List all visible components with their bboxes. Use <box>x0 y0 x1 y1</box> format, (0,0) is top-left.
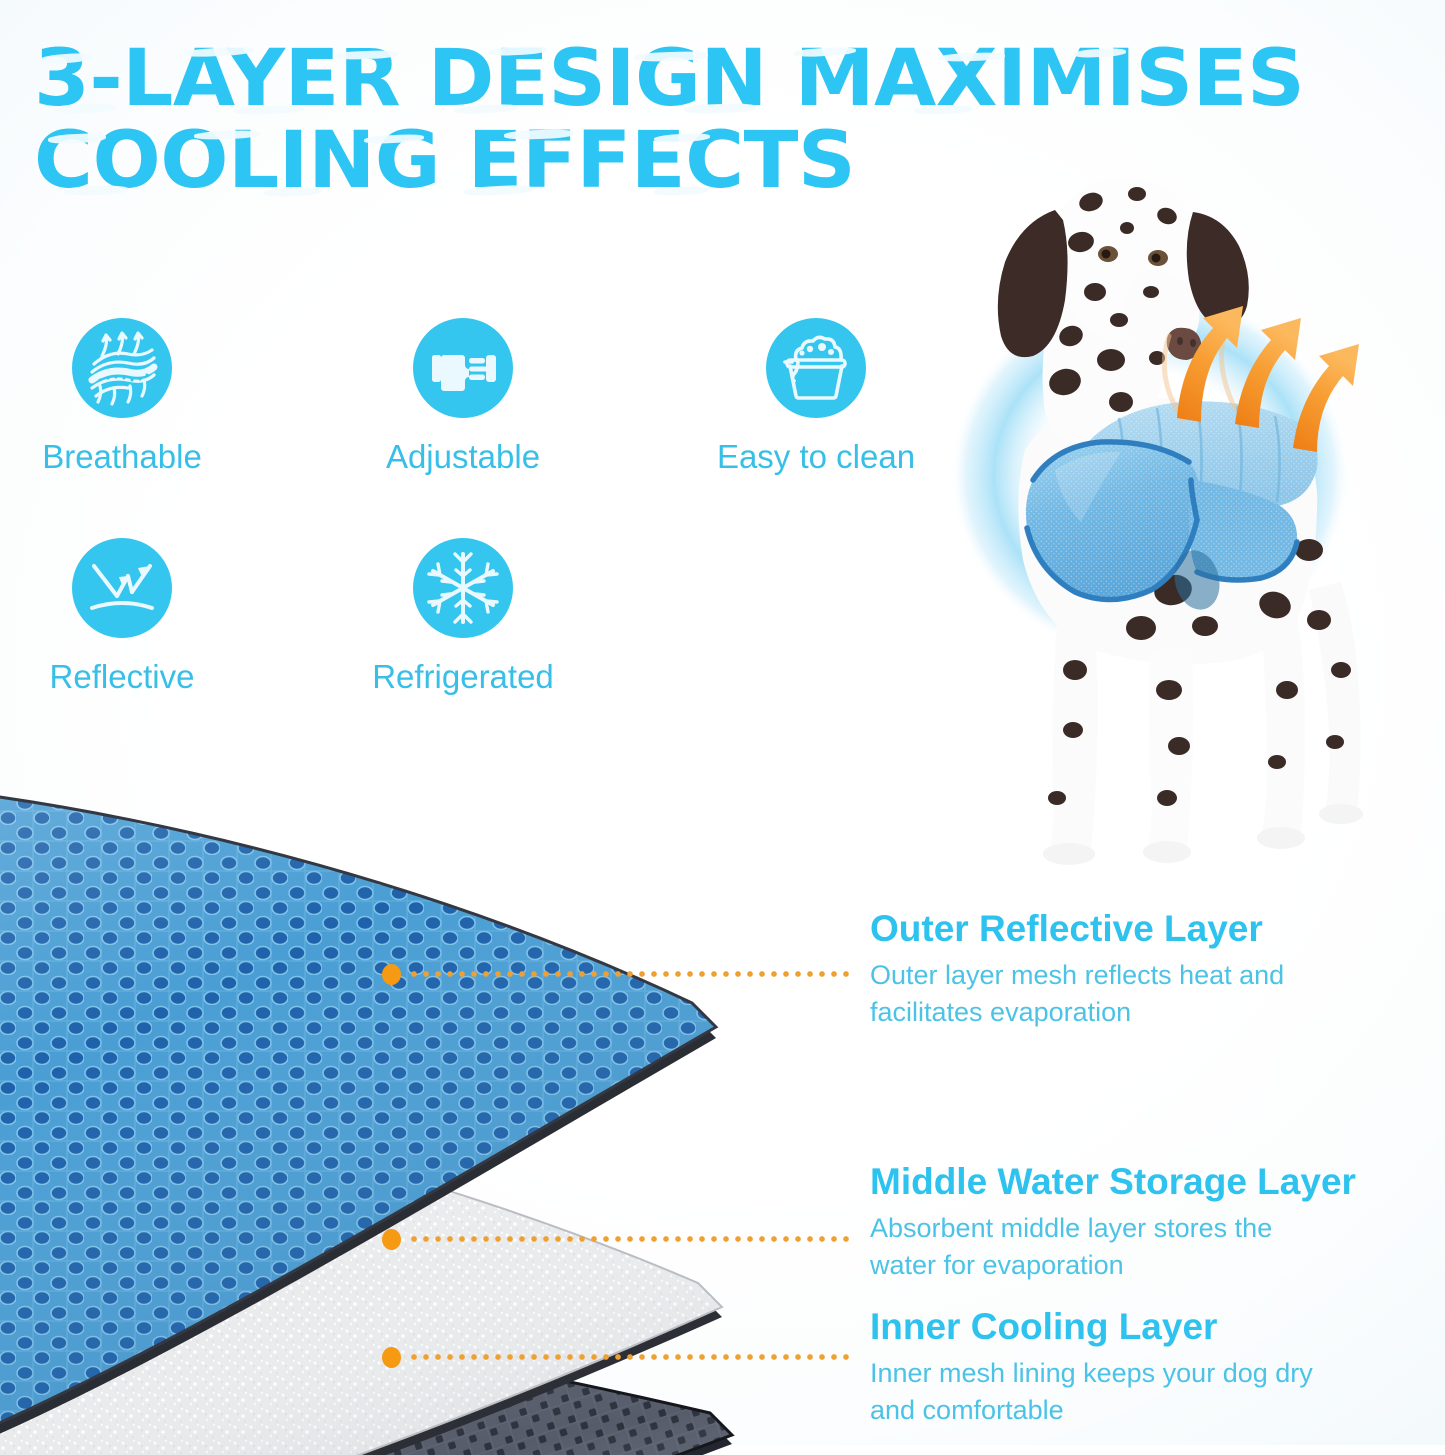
callout-body-line: Inner mesh lining keeps your dog dry <box>870 1355 1313 1392</box>
callout-body-line: Outer layer mesh reflects heat and <box>870 957 1284 994</box>
feature-list: Breathable Adjustable <box>0 318 960 758</box>
buckle-icon <box>413 318 513 418</box>
infographic-canvas: 3-LAYER DESIGN MAXIMISES COOLING EFFECTS <box>0 0 1445 1445</box>
callout-inner-cooling-layer: Inner Cooling Layer Inner mesh lining ke… <box>870 1305 1313 1429</box>
feature-refrigerated: Refrigerated <box>328 538 598 696</box>
headline-line-1: 3-LAYER DESIGN MAXIMISES <box>34 42 1177 116</box>
feature-row-1: Breathable Adjustable <box>0 318 960 538</box>
leader-dots <box>408 1353 852 1361</box>
callout-body-line: facilitates evaporation <box>870 994 1284 1031</box>
callout-body-line: Absorbent middle layer stores the <box>870 1210 1356 1247</box>
leader-dot <box>382 1347 401 1368</box>
feature-label: Breathable <box>0 438 257 476</box>
leader-dots <box>408 1235 852 1243</box>
wash-basin-icon <box>766 318 866 418</box>
feature-row-2: Reflective <box>0 538 960 758</box>
callout-title: Middle Water Storage Layer <box>870 1160 1356 1204</box>
reflective-rays-icon <box>72 538 172 638</box>
callout-body: Outer layer mesh reflects heat and facil… <box>870 957 1284 1031</box>
leader-line-middle <box>382 1228 852 1250</box>
callout-title: Inner Cooling Layer <box>870 1305 1313 1349</box>
feature-label: Reflective <box>0 658 257 696</box>
feature-adjustable: Adjustable <box>328 318 598 476</box>
leader-dot <box>382 1229 401 1250</box>
leader-line-inner <box>382 1346 852 1368</box>
leader-line-outer <box>382 963 852 985</box>
callout-body-line: water for evaporation <box>870 1247 1356 1284</box>
leader-dots <box>408 970 852 978</box>
callout-title: Outer Reflective Layer <box>870 907 1284 951</box>
product-photo-dog-in-vest <box>905 150 1445 870</box>
callout-middle-water-storage-layer: Middle Water Storage Layer Absorbent mid… <box>870 1160 1356 1284</box>
feature-breathable: Breathable <box>0 318 257 476</box>
feature-reflective: Reflective <box>0 538 257 696</box>
leader-dot <box>382 964 401 985</box>
feature-label: Refrigerated <box>328 658 598 696</box>
snowflake-icon <box>413 538 513 638</box>
callout-body-line: and comfortable <box>870 1392 1313 1429</box>
callout-outer-reflective-layer: Outer Reflective Layer Outer layer mesh … <box>870 907 1284 1031</box>
breathable-fabric-icon <box>72 318 172 418</box>
callout-body: Inner mesh lining keeps your dog dry and… <box>870 1355 1313 1429</box>
feature-label: Adjustable <box>328 438 598 476</box>
callout-body: Absorbent middle layer stores the water … <box>870 1210 1356 1284</box>
